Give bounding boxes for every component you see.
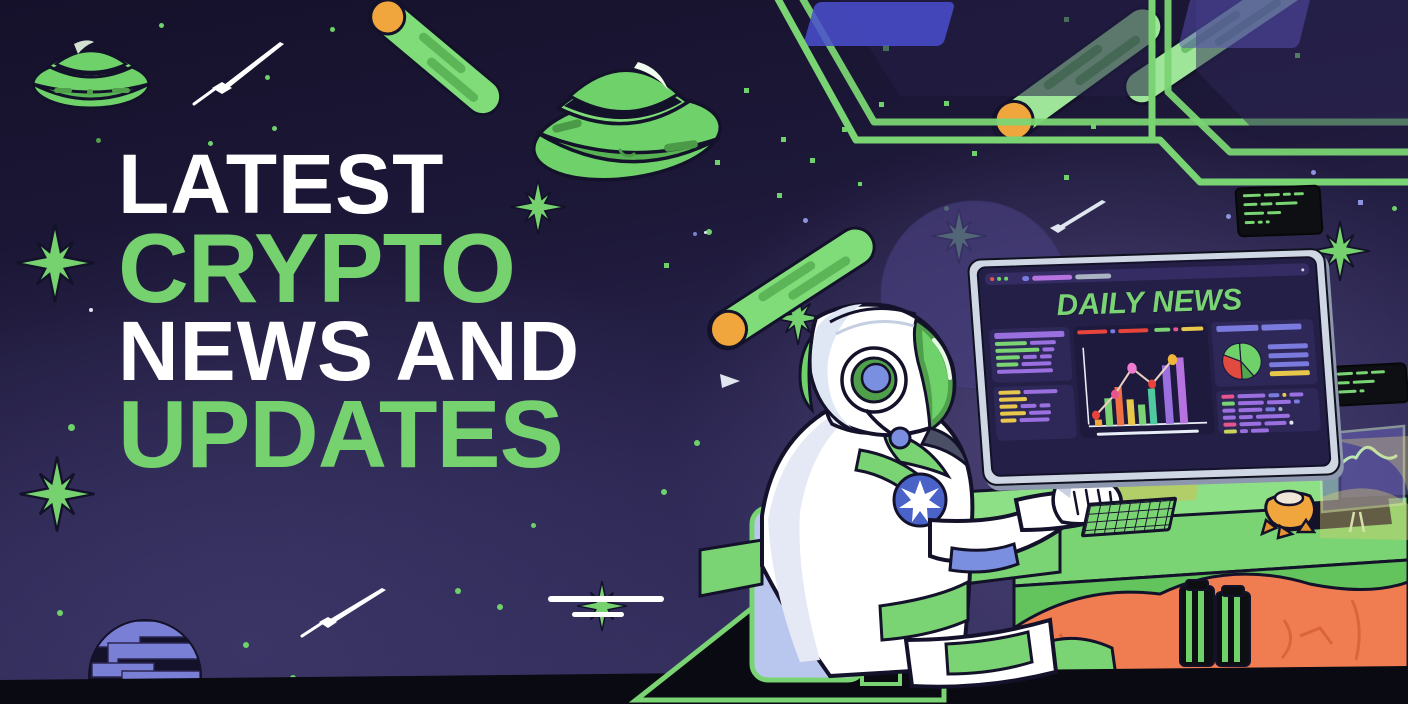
keyboard[interactable] [1080, 497, 1177, 538]
terminal-cursor [1338, 387, 1400, 396]
chart-scrollbar[interactable] [1096, 430, 1198, 436]
list-item[interactable] [1222, 413, 1315, 420]
list-item[interactable] [1221, 399, 1314, 406]
search-bar[interactable] [1075, 273, 1111, 279]
dashboard-center-column [1072, 322, 1214, 438]
market-chart-card[interactable] [1072, 322, 1214, 438]
news-list-card[interactable] [1216, 388, 1322, 434]
list-item[interactable] [1222, 406, 1315, 413]
terminal-top[interactable] [1234, 185, 1323, 238]
terminal-bottom[interactable] [1328, 362, 1408, 407]
terminal-top-body [1234, 185, 1323, 238]
pie-chart-svg [1218, 340, 1263, 383]
list-item[interactable] [1223, 420, 1316, 427]
terminal-line [1243, 192, 1313, 200]
terminal-bottom-body [1328, 362, 1408, 407]
text-row [996, 354, 1066, 360]
pie-chart [1217, 340, 1264, 383]
pie-legend [1267, 343, 1312, 376]
headline-line-1: LATEST [118, 146, 580, 223]
article-card[interactable] [993, 385, 1077, 441]
browser-back-icon[interactable] [1022, 275, 1029, 280]
page-title: LATEST CRYPTO NEWS AND UPDATES [118, 146, 580, 479]
text-row [1000, 410, 1070, 416]
text-row [1000, 417, 1070, 423]
text-bar [997, 368, 1053, 374]
text-row [995, 347, 1065, 353]
list-item[interactable] [1223, 427, 1316, 434]
text-row [996, 361, 1066, 367]
terminal-line [1243, 201, 1313, 209]
text-row [999, 403, 1069, 409]
monitor-screen: DAILY NEWS [976, 256, 1332, 477]
dashboard-left-column [989, 327, 1077, 441]
list-item[interactable] [1221, 392, 1314, 399]
orange-mug [1262, 491, 1315, 538]
window-minimize-dot[interactable] [997, 277, 1001, 281]
monitor[interactable]: DAILY NEWS [967, 248, 1342, 487]
headline-line-3: NEWS AND [118, 313, 580, 390]
headline-line-2: CRYPTO [118, 223, 580, 313]
text-row [999, 396, 1069, 402]
text-bar [994, 331, 1064, 339]
chart-plot [1078, 338, 1210, 430]
bar-series [1090, 357, 1188, 426]
text-row [1216, 323, 1309, 332]
menu-dot-icon[interactable] [1301, 268, 1304, 271]
article-card[interactable] [989, 327, 1073, 383]
terminal-line [1244, 210, 1314, 218]
terminal-line [1338, 378, 1400, 387]
window-maximize-dot[interactable] [1004, 277, 1008, 281]
address-bar[interactable] [1032, 274, 1072, 280]
terminal-line [1337, 369, 1399, 378]
text-row [995, 340, 1065, 346]
chart-legend [1077, 326, 1203, 334]
green-canisters [1180, 580, 1250, 666]
terminal-cursor [1245, 219, 1315, 227]
text-row [998, 389, 1068, 395]
headline-line-4: UPDATES [118, 391, 580, 479]
allocation-card[interactable] [1210, 319, 1317, 387]
combined-chart [1078, 338, 1210, 430]
window-panel-fill [803, 0, 1408, 126]
crypto-news-banner: DAILY NEWS [0, 0, 1408, 704]
dashboard-columns [987, 319, 1323, 441]
window-close-dot[interactable] [990, 277, 994, 281]
dashboard-right-column [1210, 319, 1321, 434]
